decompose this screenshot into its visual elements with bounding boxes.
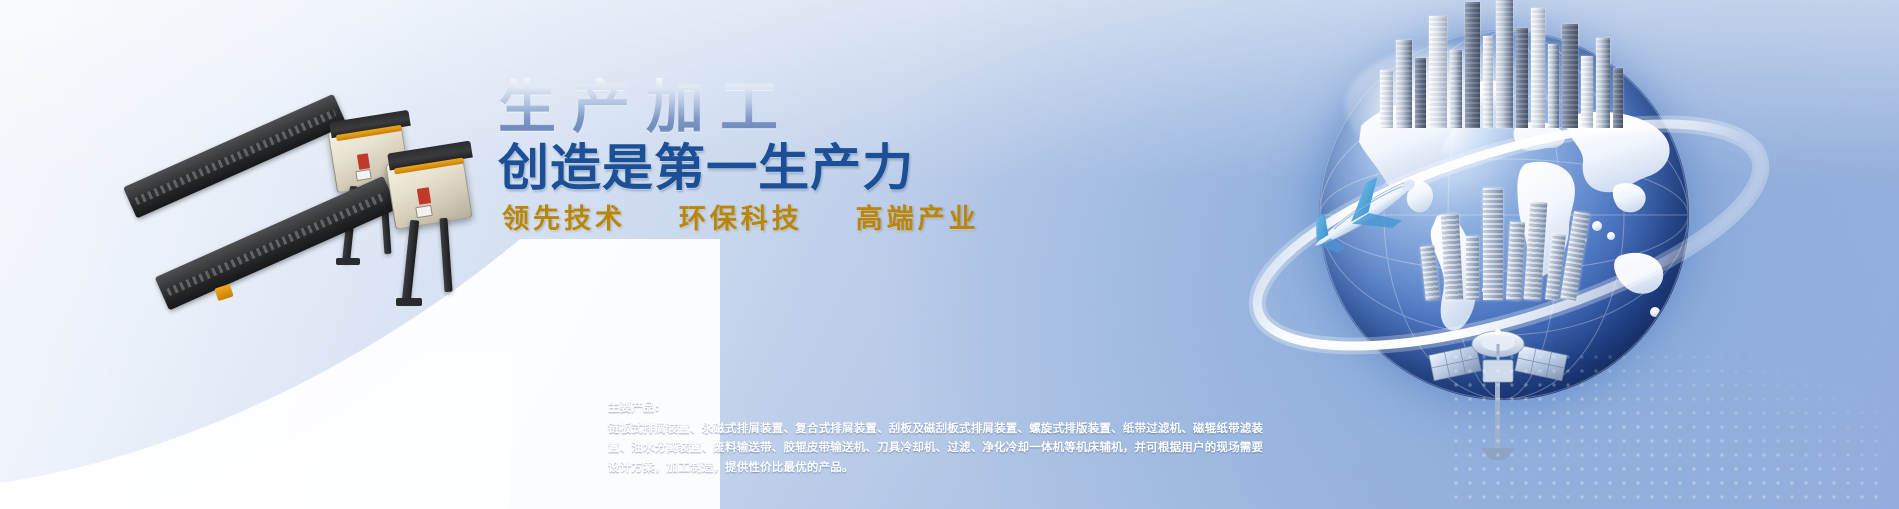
globe-building-6 xyxy=(1524,202,1548,301)
city-skyline-globe xyxy=(1419,110,1609,300)
support-leg-front-2 xyxy=(439,218,452,292)
promotional-banner: 生产加工 创造是第一生产力 领先技术 环保科技 高端产业 主要产品: 链板式排屑… xyxy=(0,0,1899,509)
skyscraper-8 xyxy=(1496,0,1513,128)
leg-foot-front xyxy=(396,298,422,306)
globe-artwork-group xyxy=(1119,0,1879,509)
globe-building-4 xyxy=(1483,188,1503,300)
chip-conveyor-machine-group xyxy=(150,120,510,340)
tagline-item-1: 领先技术 xyxy=(502,204,626,235)
warning-label-rear xyxy=(357,153,370,170)
globe-building-8 xyxy=(1560,211,1590,300)
globe-building-5 xyxy=(1506,222,1525,301)
skyscraper-15 xyxy=(1613,68,1623,128)
conveyor-belt-front xyxy=(155,176,398,311)
leg-foot-rear xyxy=(336,258,360,265)
tagline-row: 领先技术 环保科技 高端产业 xyxy=(502,205,968,235)
globe-building-2 xyxy=(1441,214,1463,301)
tagline-item-2: 环保科技 xyxy=(679,204,803,235)
city-skyline-top xyxy=(1374,0,1644,128)
globe-building-3 xyxy=(1466,236,1479,300)
headline-main: 生产加工 xyxy=(498,78,968,136)
diagonal-swoosh-highlight xyxy=(0,349,510,509)
airplane-icon xyxy=(1287,160,1437,270)
warning-label-front xyxy=(417,187,431,205)
conveyor-belt-rear xyxy=(123,94,347,219)
satellite-icon xyxy=(1419,310,1579,460)
skyscraper-2 xyxy=(1396,40,1412,128)
support-leg-front xyxy=(402,220,420,302)
headline-block: 生产加工 创造是第一生产力 领先技术 环保科技 高端产业 xyxy=(498,78,968,234)
tagline-item-3: 高端产业 xyxy=(856,204,980,235)
skyscraper-1 xyxy=(1380,70,1393,128)
headline-sub: 创造是第一生产力 xyxy=(498,142,977,195)
